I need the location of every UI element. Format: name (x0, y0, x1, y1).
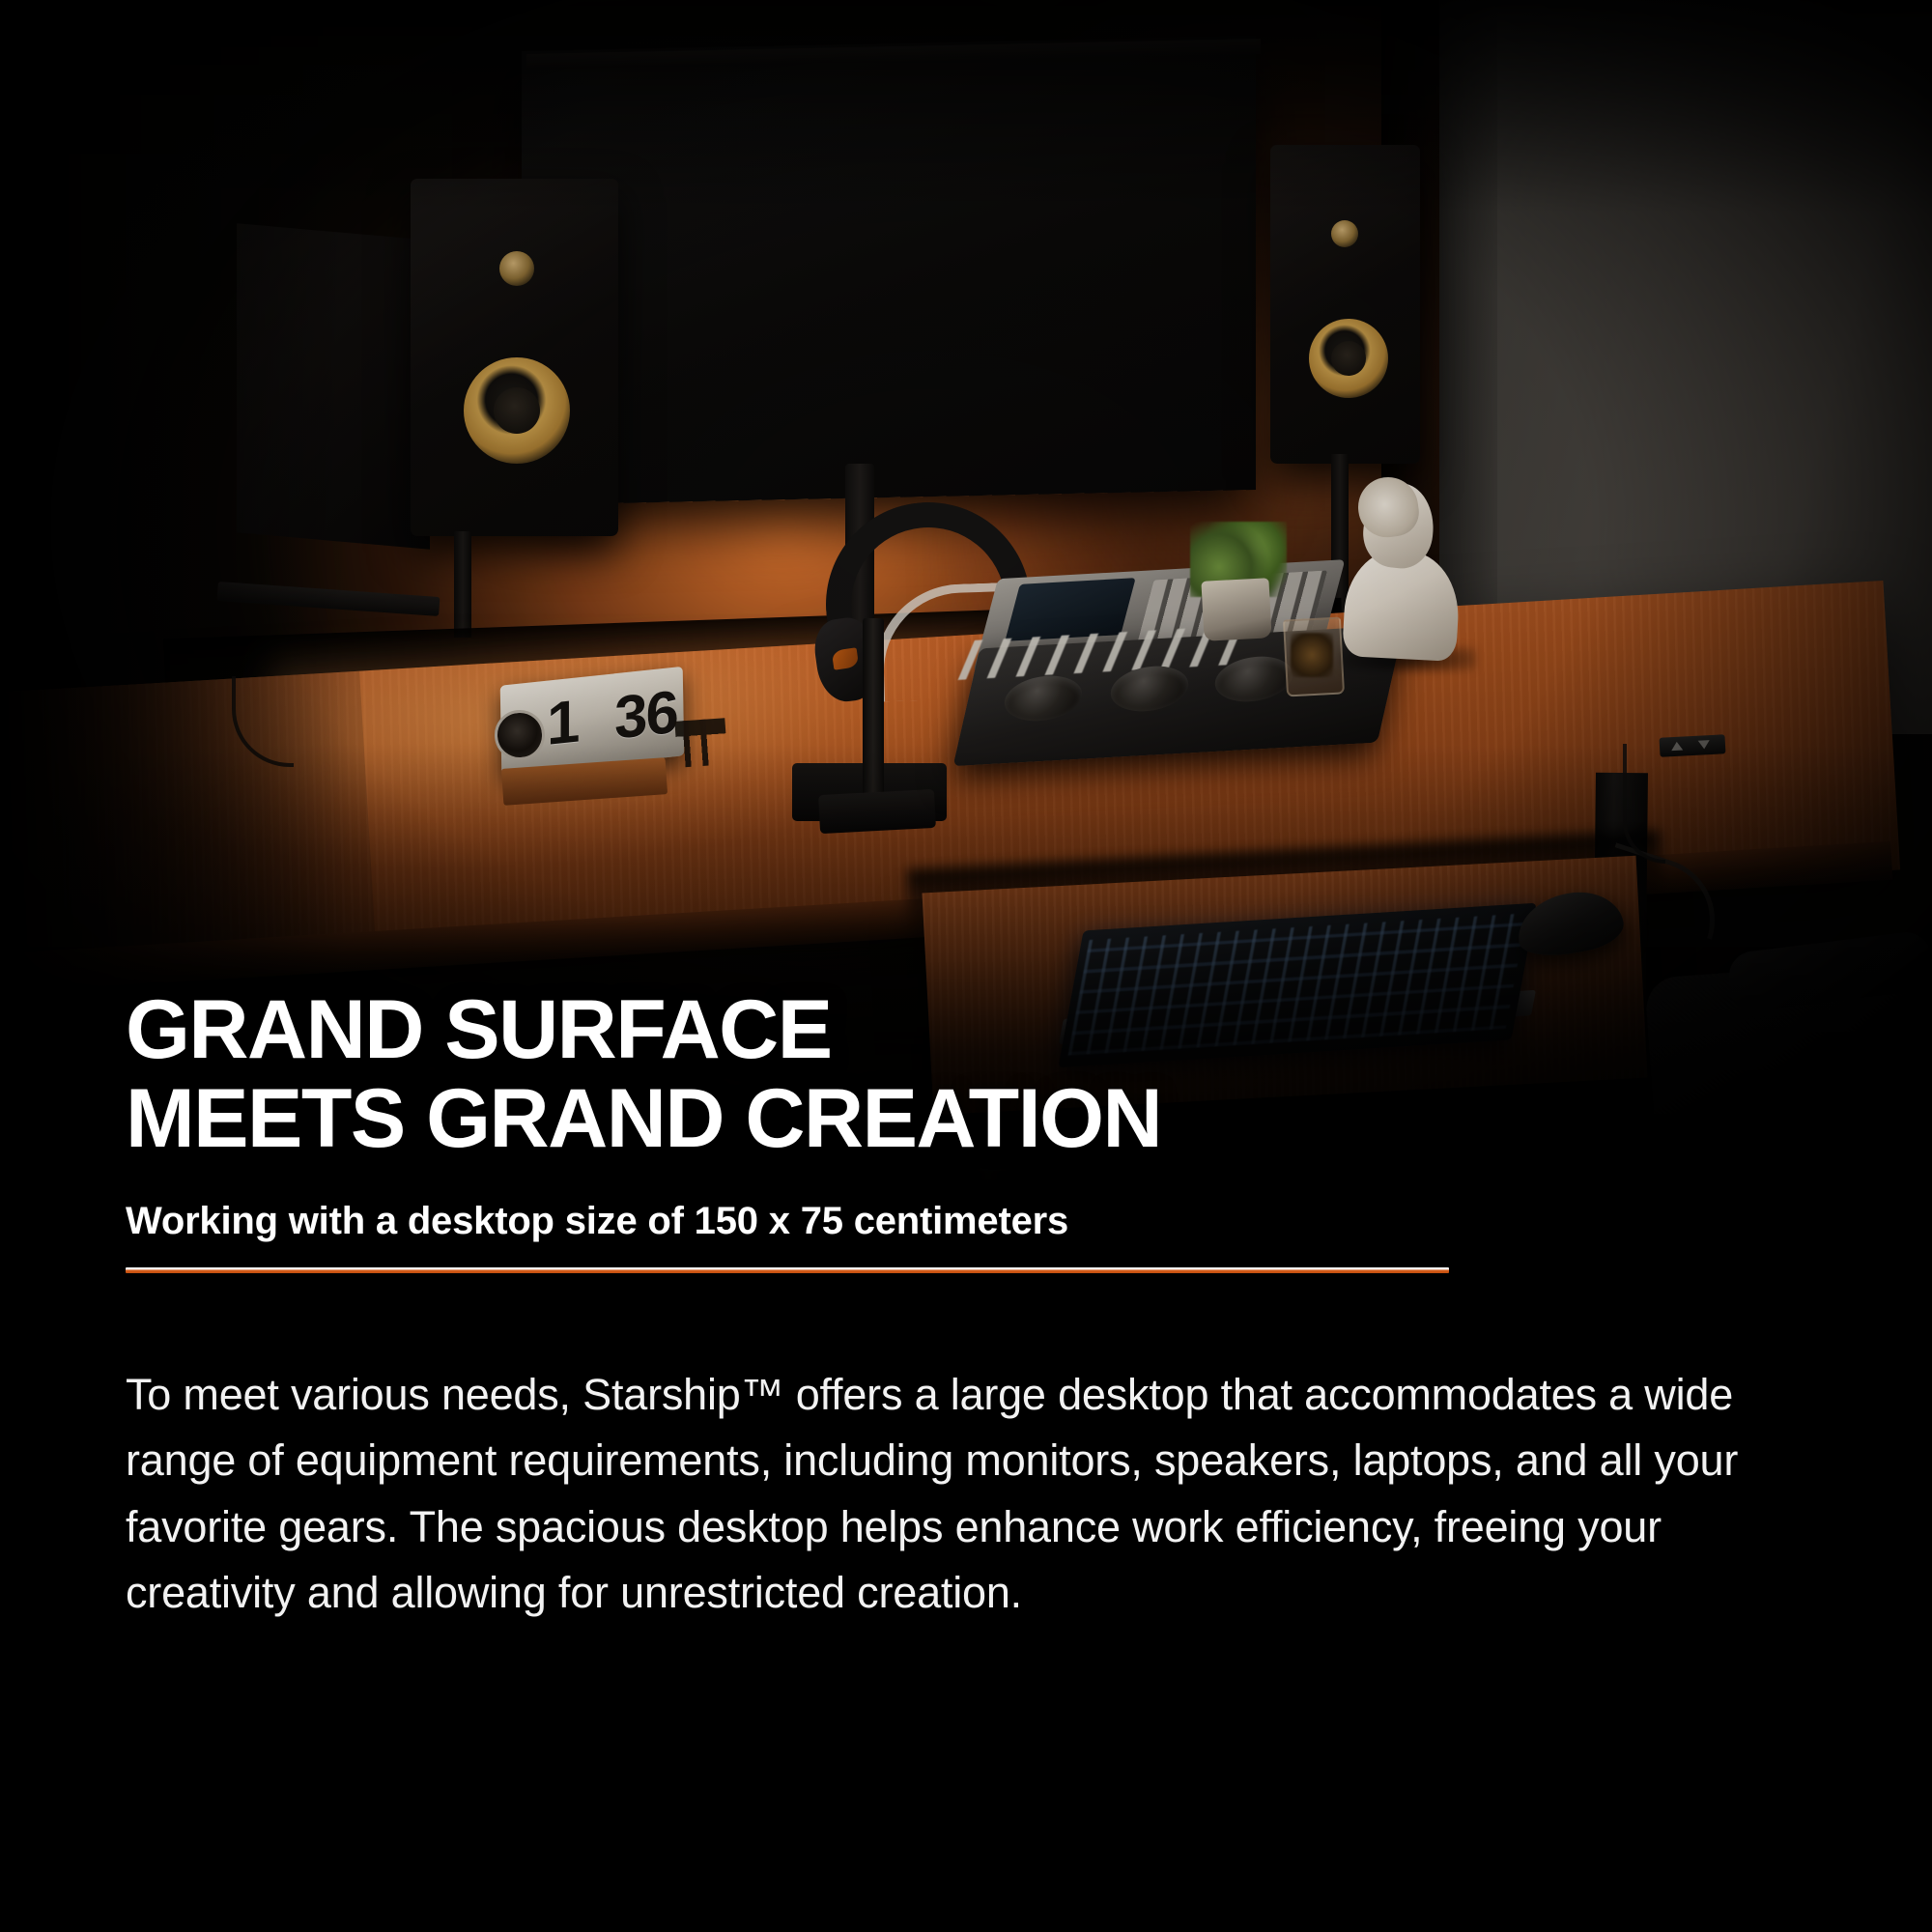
subtitle: Working with a desktop size of 150 x 75 … (126, 1198, 1826, 1244)
page-title: GRAND SURFACE MEETS GRAND CREATION (126, 985, 1478, 1163)
body-paragraph: To meet various needs, Starship™ offers … (126, 1362, 1826, 1627)
hero-content: GRAND SURFACE MEETS GRAND CREATION Worki… (126, 985, 1826, 1627)
promo-page: 1 36 (0, 0, 1932, 1932)
headline-line-2: MEETS GRAND CREATION (126, 1074, 1478, 1163)
accent-divider (126, 1267, 1449, 1273)
headline-line-1: GRAND SURFACE (126, 985, 1478, 1074)
